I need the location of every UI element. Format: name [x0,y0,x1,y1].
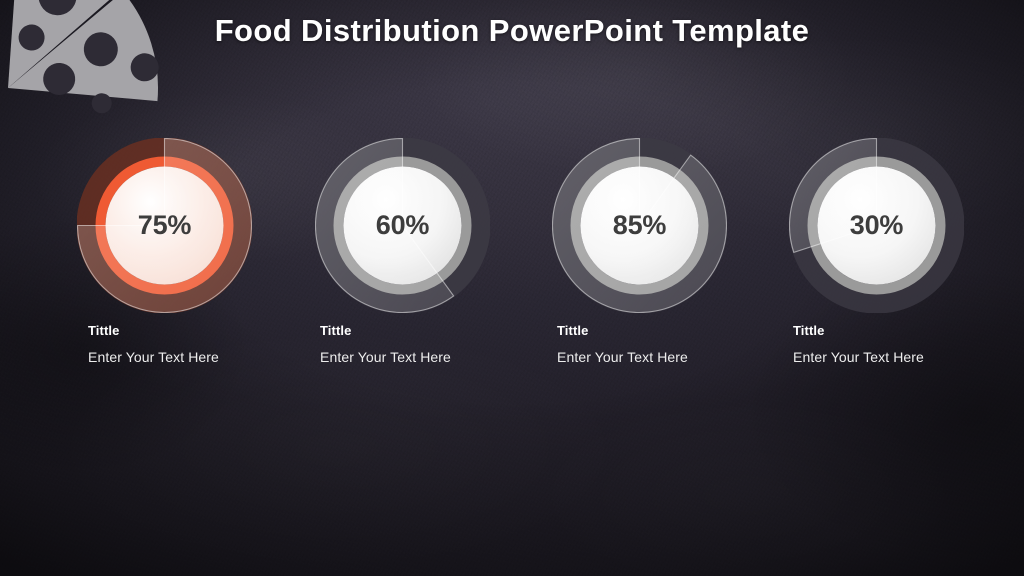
caption-text-4: Enter Your Text Here [793,347,924,367]
gauge-item-2[interactable]: 60% [315,138,490,313]
gauge-progress-arc [552,139,726,313]
caption-title-1: Tittle [88,322,219,339]
page-title: Food Distribution PowerPoint Template [0,13,1024,49]
gauge-item-1[interactable]: 75% [77,138,252,313]
caption-item-4[interactable]: Tittle Enter Your Text Here [793,322,924,367]
caption-row: Tittle Enter Your Text Here Tittle Enter… [0,322,1024,382]
caption-text-2: Enter Your Text Here [320,347,451,367]
caption-item-2[interactable]: Tittle Enter Your Text Here [320,322,451,367]
caption-item-1[interactable]: Tittle Enter Your Text Here [88,322,219,367]
gauge-item-3[interactable]: 85% [552,138,727,313]
caption-title-3: Tittle [557,322,688,339]
caption-title-4: Tittle [793,322,924,339]
caption-text-3: Enter Your Text Here [557,347,688,367]
caption-text-1: Enter Your Text Here [88,347,219,367]
caption-item-3[interactable]: Tittle Enter Your Text Here [557,322,688,367]
gauge-row: 75% [0,138,1024,313]
caption-title-2: Tittle [320,322,451,339]
gauge-item-4[interactable]: 30% [789,138,964,313]
slide-canvas: Food Distribution PowerPoint Template [0,0,1024,576]
